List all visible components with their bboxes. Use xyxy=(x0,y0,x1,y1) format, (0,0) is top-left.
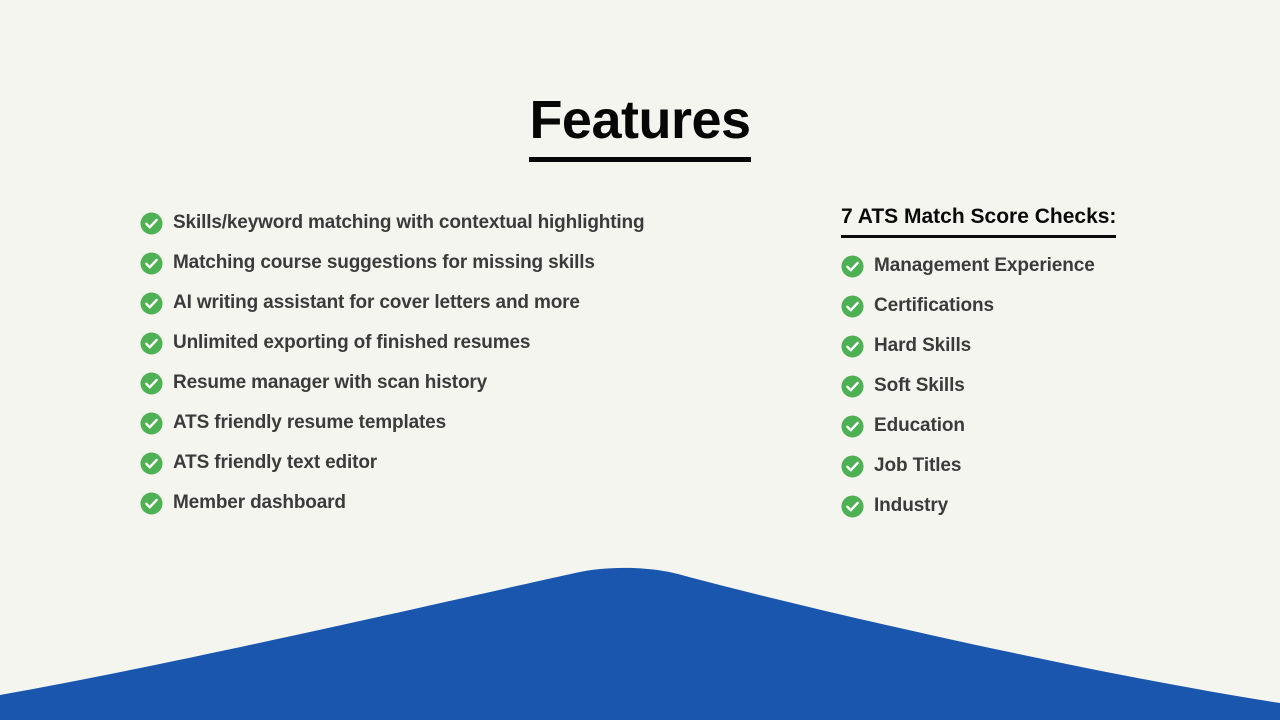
green-check-circle-icon xyxy=(140,492,163,515)
green-check-circle-icon xyxy=(140,372,163,395)
list-item: Soft Skills xyxy=(841,366,1241,406)
list-item: AI writing assistant for cover letters a… xyxy=(140,283,800,323)
list-item: Job Titles xyxy=(841,446,1241,486)
list-item: Member dashboard xyxy=(140,483,800,523)
list-item: Resume manager with scan history xyxy=(140,363,800,403)
list-item: Certifications xyxy=(841,286,1241,326)
blue-mountain-wave-decoration xyxy=(0,545,1280,720)
list-item-label: Education xyxy=(874,415,965,437)
list-item-label: Hard Skills xyxy=(874,335,971,357)
list-item-label: ATS friendly resume templates xyxy=(173,412,446,434)
left-feature-column: Skills/keyword matching with contextual … xyxy=(140,203,800,523)
green-check-circle-icon xyxy=(140,252,163,275)
list-item-label: Resume manager with scan history xyxy=(173,372,487,394)
list-item-label: Certifications xyxy=(874,295,994,317)
list-item-label: ATS friendly text editor xyxy=(173,452,377,474)
green-check-circle-icon xyxy=(140,412,163,435)
list-item-label: Unlimited exporting of finished resumes xyxy=(173,332,530,354)
green-check-circle-icon xyxy=(140,332,163,355)
list-item: Matching course suggestions for missing … xyxy=(140,243,800,283)
green-check-circle-icon xyxy=(841,375,864,398)
green-check-circle-icon xyxy=(140,212,163,235)
list-item-label: Skills/keyword matching with contextual … xyxy=(173,212,644,234)
green-check-circle-icon xyxy=(841,455,864,478)
list-item-label: Matching course suggestions for missing … xyxy=(173,252,595,274)
green-check-circle-icon xyxy=(841,295,864,318)
list-item-label: Soft Skills xyxy=(874,375,965,397)
list-item: Management Experience xyxy=(841,246,1241,286)
list-item: ATS friendly resume templates xyxy=(140,403,800,443)
list-item-label: Member dashboard xyxy=(173,492,346,514)
green-check-circle-icon xyxy=(140,292,163,315)
green-check-circle-icon xyxy=(841,255,864,278)
list-item: Skills/keyword matching with contextual … xyxy=(140,203,800,243)
list-item: Unlimited exporting of finished resumes xyxy=(140,323,800,363)
list-item: Industry xyxy=(841,486,1241,526)
list-item-label: Management Experience xyxy=(874,255,1095,277)
list-item: Education xyxy=(841,406,1241,446)
green-check-circle-icon xyxy=(841,335,864,358)
green-check-circle-icon xyxy=(140,452,163,475)
page-title-container: Features xyxy=(0,92,1280,162)
ats-checks-heading-container: 7 ATS Match Score Checks: xyxy=(841,203,1241,246)
green-check-circle-icon xyxy=(841,415,864,438)
list-item-label: Industry xyxy=(874,495,948,517)
list-item: ATS friendly text editor xyxy=(140,443,800,483)
green-check-circle-icon xyxy=(841,495,864,518)
slide-canvas: Features Skills/keyword matching with co… xyxy=(0,0,1280,720)
right-feature-column: 7 ATS Match Score Checks: Management Exp… xyxy=(841,203,1241,526)
ats-checks-list: Management Experience Certifications Har… xyxy=(841,246,1241,526)
left-feature-list: Skills/keyword matching with contextual … xyxy=(140,203,800,523)
page-title: Features xyxy=(529,92,750,162)
list-item-label: Job Titles xyxy=(874,455,961,477)
list-item-label: AI writing assistant for cover letters a… xyxy=(173,292,580,314)
ats-checks-heading: 7 ATS Match Score Checks: xyxy=(841,203,1116,238)
list-item: Hard Skills xyxy=(841,326,1241,366)
